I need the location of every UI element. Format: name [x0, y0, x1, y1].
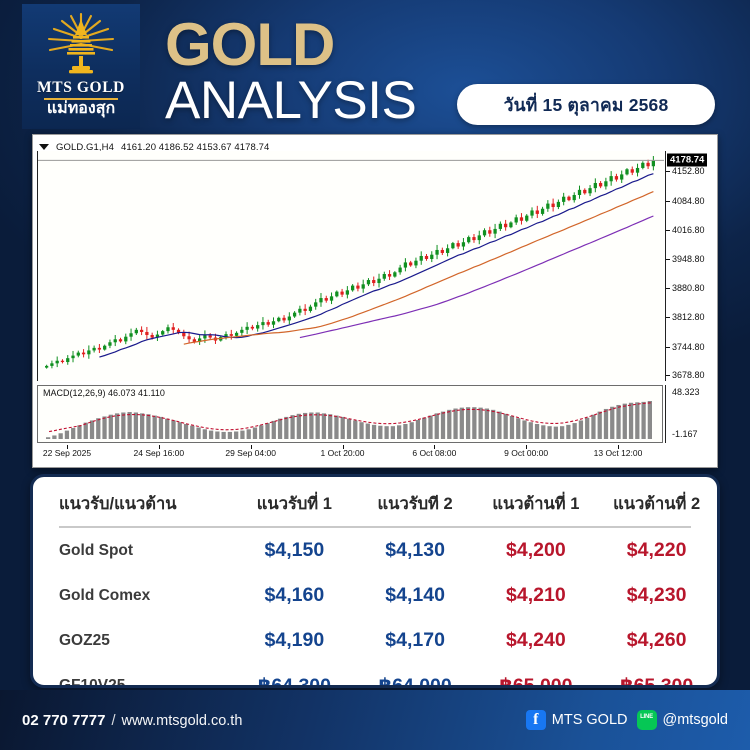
- pagoda-rays-icon: [38, 13, 124, 79]
- cell-resistance-1: $4,200: [476, 528, 597, 573]
- price-tick-label: 4152.80: [672, 166, 705, 176]
- footer-contact: 02 770 7777 / www.mtsgold.co.th: [22, 712, 242, 729]
- cell-resistance-2: $4,220: [596, 528, 717, 573]
- macd-axis: 48.323-1.167: [665, 385, 718, 443]
- price-tick-mark: [666, 201, 670, 202]
- column-header-category: แนวรับ/แนวต้าน: [33, 477, 234, 528]
- levels-table: แนวรับ/แนวต้าน แนวรับที่ 1 แนวรับที 2 แน…: [33, 477, 717, 688]
- price-tick-mark: [666, 347, 670, 348]
- table-row: GOZ25$4,190$4,170$4,240$4,260: [33, 618, 717, 663]
- header: MTS GOLD แม่ทองสุก GOLD ANALYSIS วันที่ …: [0, 0, 750, 135]
- brand-thai-name: แม่ทองสุก: [47, 101, 115, 118]
- footer-phone[interactable]: 02 770 7777: [22, 712, 105, 729]
- cell-support-2: $4,140: [355, 573, 476, 618]
- footer-website[interactable]: www.mtsgold.co.th: [122, 713, 243, 729]
- row-label: Gold Spot: [33, 528, 234, 573]
- time-axis: 22 Sep 202524 Sep 16:0029 Sep 04:001 Oct…: [37, 445, 663, 465]
- column-header-support-1: แนวรับที่ 1: [234, 477, 355, 528]
- time-tick-mark: [434, 445, 435, 449]
- cell-support-1: $4,190: [234, 618, 355, 663]
- table-row: Gold Comex$4,160$4,140$4,210$4,230: [33, 573, 717, 618]
- cell-support-1: ฿64,300: [234, 663, 355, 688]
- line-icon: LINE: [637, 710, 657, 730]
- macd-pane: MACD(12,26,9) 46.073 41.110: [37, 385, 663, 443]
- time-tick-label: 24 Sep 16:00: [134, 448, 185, 458]
- cell-resistance-2: $4,260: [596, 618, 717, 663]
- brand-logo: MTS GOLD แม่ทองสุก: [22, 4, 140, 129]
- cell-resistance-2: ฿65,300: [596, 663, 717, 688]
- brand-name: MTS GOLD: [37, 80, 125, 96]
- facebook-icon: f: [526, 710, 546, 730]
- title-line-analysis: ANALYSIS: [165, 74, 416, 127]
- chevron-down-icon[interactable]: [39, 144, 49, 150]
- line-link[interactable]: LINE @mtsgold: [637, 710, 729, 730]
- price-chart[interactable]: GOLD.G1,H4 4161.20 4186.52 4153.67 4178.…: [32, 134, 718, 468]
- time-tick-mark: [159, 445, 160, 449]
- time-tick-mark: [67, 445, 68, 449]
- current-price-label: 4178.74: [667, 154, 707, 167]
- table-row: Gold Spot$4,150$4,130$4,200$4,220: [33, 528, 717, 573]
- price-axis: 4152.804084.804016.803948.803880.803812.…: [665, 151, 718, 381]
- price-tick-label: 3812.80: [672, 312, 705, 322]
- footer: 02 770 7777 / www.mtsgold.co.th f MTS GO…: [0, 690, 750, 750]
- price-tick-label: 3948.80: [672, 254, 705, 264]
- time-tick-label: 6 Oct 08:00: [412, 448, 456, 458]
- time-tick-mark: [526, 445, 527, 449]
- poster-root: MTS GOLD แม่ทองสุก GOLD ANALYSIS วันที่ …: [0, 0, 750, 750]
- cell-support-2: $4,170: [355, 618, 476, 663]
- price-tick-label: 3880.80: [672, 283, 705, 293]
- price-tick-mark: [666, 375, 670, 376]
- footer-separator: /: [111, 713, 115, 729]
- facebook-link[interactable]: f MTS GOLD: [526, 710, 628, 730]
- title-line-gold: GOLD: [165, 16, 416, 74]
- page-title: GOLD ANALYSIS: [165, 16, 416, 127]
- candlestick-pane: [37, 151, 664, 381]
- candlestick-series: [38, 151, 664, 381]
- price-tick-mark: [666, 259, 670, 260]
- time-tick-label: 13 Oct 12:00: [594, 448, 643, 458]
- row-label: GF10V25: [33, 663, 234, 688]
- table-header-row: แนวรับ/แนวต้าน แนวรับที่ 1 แนวรับที 2 แน…: [33, 477, 717, 528]
- column-header-resistance-1: แนวต้านที่ 1: [476, 477, 597, 528]
- time-tick-label: 9 Oct 00:00: [504, 448, 548, 458]
- date-badge: วันที่ 15 ตุลาคม 2568: [457, 84, 715, 125]
- price-tick-mark: [666, 171, 670, 172]
- cell-support-1: $4,160: [234, 573, 355, 618]
- time-tick-label: 22 Sep 2025: [43, 448, 91, 458]
- column-header-support-2: แนวรับที 2: [355, 477, 476, 528]
- price-tick-label: 4016.80: [672, 225, 705, 235]
- cell-resistance-1: $4,210: [476, 573, 597, 618]
- column-header-resistance-2: แนวต้านที่ 2: [596, 477, 717, 528]
- line-label: @mtsgold: [663, 712, 729, 728]
- price-tick-mark: [666, 230, 670, 231]
- price-tick-mark: [666, 317, 670, 318]
- time-tick-mark: [343, 445, 344, 449]
- time-tick-mark: [251, 445, 252, 449]
- cell-resistance-1: ฿65,000: [476, 663, 597, 688]
- cell-resistance-1: $4,240: [476, 618, 597, 663]
- price-tick-label: 4084.80: [672, 196, 705, 206]
- time-tick-label: 29 Sep 04:00: [225, 448, 276, 458]
- facebook-label: MTS GOLD: [552, 712, 628, 728]
- row-label: Gold Comex: [33, 573, 234, 618]
- time-tick-mark: [618, 445, 619, 449]
- macd-tick-label: -1.167: [672, 429, 698, 439]
- footer-social-links: f MTS GOLD LINE @mtsgold: [526, 710, 728, 730]
- cell-support-1: $4,150: [234, 528, 355, 573]
- cell-support-2: $4,130: [355, 528, 476, 573]
- price-tick-mark: [666, 288, 670, 289]
- cell-resistance-2: $4,230: [596, 573, 717, 618]
- cell-support-2: ฿64,000: [355, 663, 476, 688]
- macd-label: MACD(12,26,9) 46.073 41.110: [43, 388, 165, 398]
- price-tick-label: 3744.80: [672, 342, 705, 352]
- table-row: GF10V25฿64,300฿64,000฿65,000฿65,300: [33, 663, 717, 688]
- support-resistance-table: แนวรับ/แนวต้าน แนวรับที่ 1 แนวรับที 2 แน…: [30, 474, 720, 688]
- header-divider: [59, 526, 691, 528]
- price-tick-label: 3678.80: [672, 370, 705, 380]
- date-text: วันที่ 15 ตุลาคม 2568: [482, 91, 691, 119]
- time-tick-label: 1 Oct 20:00: [321, 448, 365, 458]
- row-label: GOZ25: [33, 618, 234, 663]
- macd-tick-label: 48.323: [672, 387, 700, 397]
